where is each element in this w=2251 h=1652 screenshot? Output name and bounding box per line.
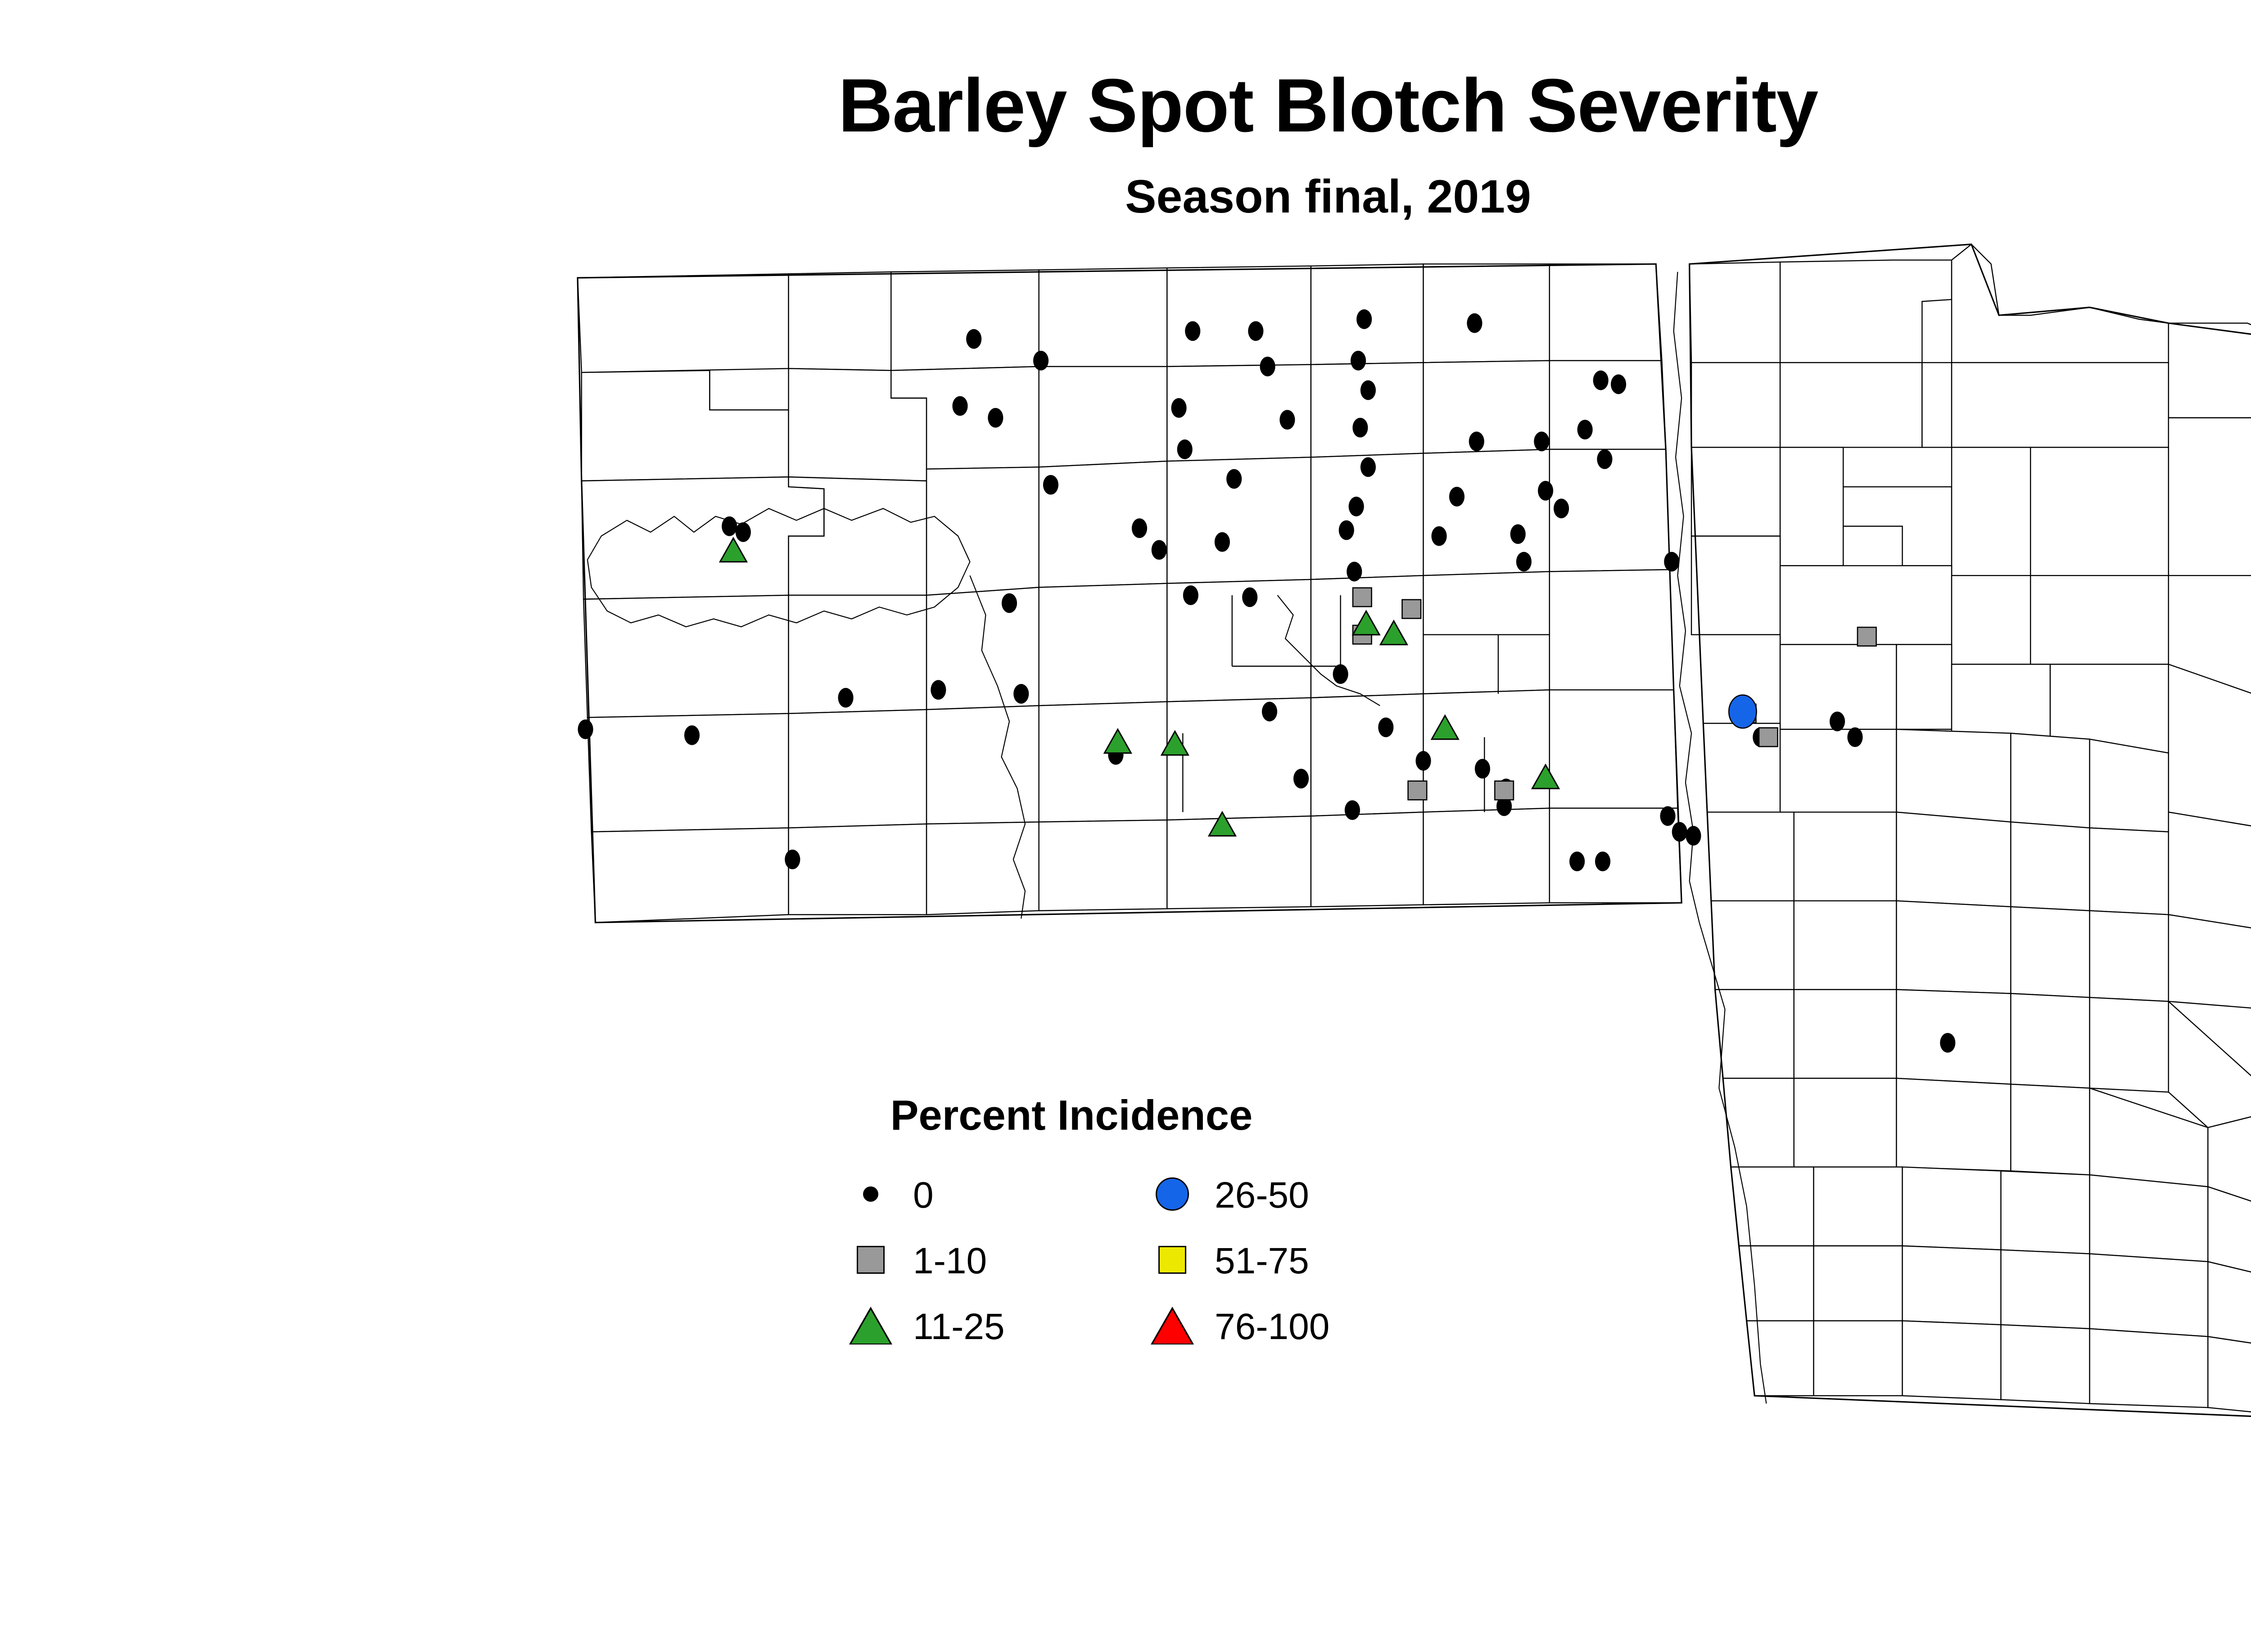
map-symbol-0 [1415, 751, 1431, 771]
map-symbol-0 [1510, 524, 1526, 544]
legend-label: 11-25 [913, 1304, 1005, 1350]
map-symbol-0 [1830, 711, 1845, 731]
legend-label: 51-75 [1215, 1238, 1309, 1285]
map-symbol-0 [1569, 851, 1585, 871]
map-symbol-0 [1469, 432, 1484, 452]
map-symbol-0 [1431, 526, 1446, 546]
map-symbol-0 [1672, 822, 1687, 842]
map-symbol-0 [1352, 418, 1368, 438]
map-symbol-0 [1177, 439, 1193, 459]
square-icon [846, 1236, 895, 1284]
page-title: Barley Spot Blotch Severity [0, 68, 2251, 143]
page-subtitle: Season final, 2019 [0, 173, 2251, 220]
map-symbol-0 [1356, 309, 1372, 329]
triangle-icon [1148, 1301, 1197, 1350]
map-symbol-0 [1226, 469, 1242, 489]
map-symbol-0 [1847, 727, 1862, 747]
circle-icon [1148, 1170, 1197, 1218]
map-symbol-0 [684, 725, 700, 745]
map-symbol-0 [1248, 321, 1263, 341]
square-icon [1148, 1236, 1197, 1284]
legend: Percent Incidence 0 1-10 [792, 1094, 1558, 1477]
map-symbol-0 [1554, 498, 1569, 518]
map-symbol-0 [1339, 520, 1354, 540]
map-symbol-0 [1002, 593, 1017, 613]
map-symbol-26-50 [1729, 695, 1756, 729]
map-symbol-0 [931, 680, 946, 700]
map-symbol-0 [1467, 313, 1482, 333]
map-symbol-0 [1538, 481, 1553, 501]
map-symbol-0 [1593, 371, 1609, 390]
map-symbol-0 [1183, 585, 1198, 605]
map-symbol-0 [1013, 684, 1029, 704]
map-symbol-0 [1595, 851, 1610, 871]
map-symbol-0 [1475, 759, 1490, 778]
legend-label: 76-100 [1215, 1304, 1329, 1350]
map-symbol-0 [1686, 826, 1701, 846]
map-symbol-0 [1152, 540, 1167, 560]
map-symbol-0 [1378, 717, 1393, 737]
map-symbol-0 [1260, 357, 1275, 376]
map-symbol-0 [1597, 449, 1612, 469]
map-symbol-0 [1611, 375, 1626, 394]
map-symbol-0 [1449, 487, 1465, 507]
map-symbol-0 [785, 850, 800, 869]
map-symbol-0 [1516, 552, 1532, 572]
map-symbol-0 [952, 396, 967, 416]
map-symbol-0 [1215, 532, 1230, 552]
map-symbol-0 [966, 329, 981, 349]
map-symbol-0 [1578, 420, 1593, 439]
map-symbol-0 [578, 720, 593, 739]
map-symbol-0 [1534, 432, 1549, 452]
map-symbol-1-10 [1353, 588, 1372, 607]
triangle-icon [846, 1301, 895, 1350]
legend-title: Percent Incidence [792, 1094, 1351, 1136]
map-symbol-0 [1033, 351, 1049, 371]
map-symbol-0 [1349, 497, 1364, 516]
map-symbol-1-10 [1402, 600, 1421, 619]
map-symbol-0 [1262, 702, 1277, 721]
dot-icon [846, 1170, 895, 1218]
map-symbol-0 [1664, 552, 1679, 572]
map-symbol-0 [988, 408, 1003, 428]
map-symbol-0 [838, 688, 853, 708]
map-symbol-0 [1043, 475, 1058, 495]
map-symbol-0 [1185, 321, 1200, 341]
map-symbol-0 [1242, 587, 1257, 607]
map-symbol-0 [1361, 380, 1376, 400]
legend-label: 26-50 [1215, 1172, 1309, 1219]
map-symbol-0 [1660, 806, 1675, 826]
minnesota-counties [1690, 244, 2251, 1420]
map-page: Barley Spot Blotch Severity Season final… [0, 0, 2251, 1652]
map-symbol-0 [1940, 1033, 1955, 1053]
map-symbol-0 [1345, 800, 1360, 820]
legend-label: 1-10 [913, 1238, 987, 1285]
map-symbol-1-10 [1495, 781, 1514, 800]
map-symbol-0 [736, 522, 751, 542]
map-symbol-1-10 [1759, 728, 1778, 747]
map-symbol-0 [1347, 562, 1362, 582]
map-symbol-0 [722, 516, 737, 536]
map-symbol-1-10 [1408, 781, 1427, 800]
map-symbol-0 [1171, 398, 1186, 418]
north-dakota-counties [578, 264, 1681, 923]
map-symbol-0 [1361, 457, 1376, 477]
map-symbol-1-10 [1858, 627, 1876, 646]
map-symbol-0 [1333, 664, 1348, 684]
map-symbol-0 [1351, 351, 1366, 371]
map-symbol-0 [1132, 518, 1147, 538]
map-symbol-0 [1279, 410, 1295, 430]
legend-label: 0 [913, 1172, 934, 1219]
map-symbol-0 [1293, 769, 1309, 788]
